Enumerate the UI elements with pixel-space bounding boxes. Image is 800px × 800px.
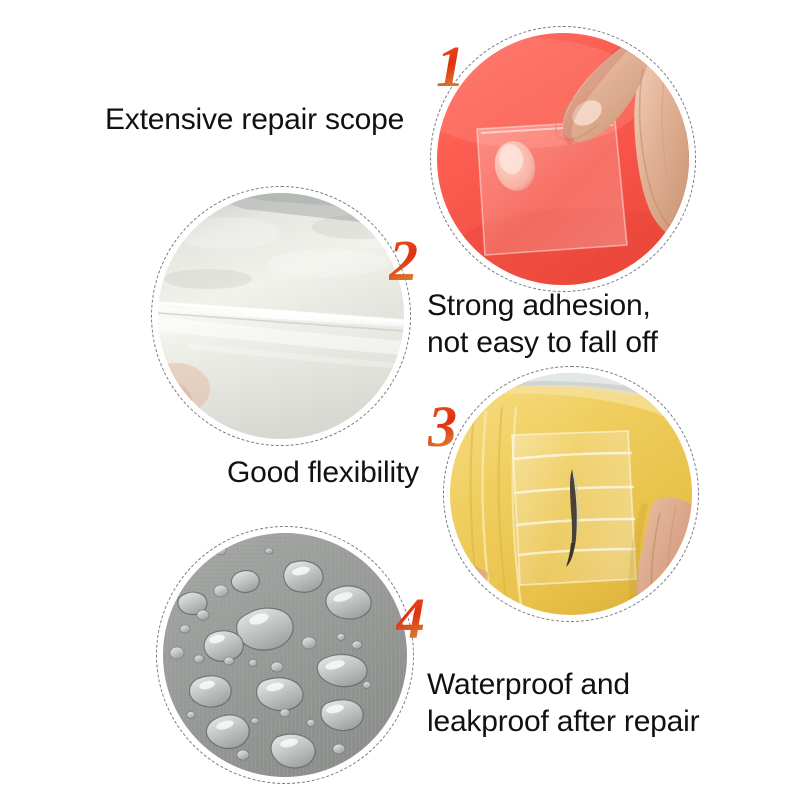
illustration-patched-tear <box>450 373 692 615</box>
caption-strong-adhesion: Strong adhesion, not easy to fall off <box>427 288 658 361</box>
feature-photo-1-extensive-repair-scope <box>437 33 689 285</box>
caption-good-flexibility: Good flexibility <box>227 455 419 492</box>
illustration-water-beading <box>163 533 407 777</box>
step-number-1: 1 <box>436 38 465 96</box>
illustration-flexible-sheet <box>158 193 404 439</box>
photo-water-droplets-beading-on-gray-fabric <box>163 533 407 777</box>
step-number-4: 4 <box>396 590 425 648</box>
caption-extensive-repair-scope: Extensive repair scope <box>105 102 404 139</box>
caption-waterproof-leakproof: Waterproof and leakproof after repair <box>427 667 699 740</box>
illustration-red-patch-application <box>437 33 689 285</box>
feature-photo-3-strong-adhesion <box>450 373 692 615</box>
step-number-2: 2 <box>389 232 418 290</box>
infographic-poster: 1 Extensive repair scope <box>0 0 800 800</box>
photo-clear-patch-over-tear-on-yellow-inflatable <box>450 373 692 615</box>
feature-photo-4-waterproof-leakproof <box>163 533 407 777</box>
feature-photo-2-good-flexibility <box>158 193 404 439</box>
photo-hand-applying-clear-patch-to-red-surface <box>437 33 689 285</box>
photo-bent-translucent-patch-material <box>158 193 404 439</box>
step-number-3: 3 <box>428 398 457 456</box>
